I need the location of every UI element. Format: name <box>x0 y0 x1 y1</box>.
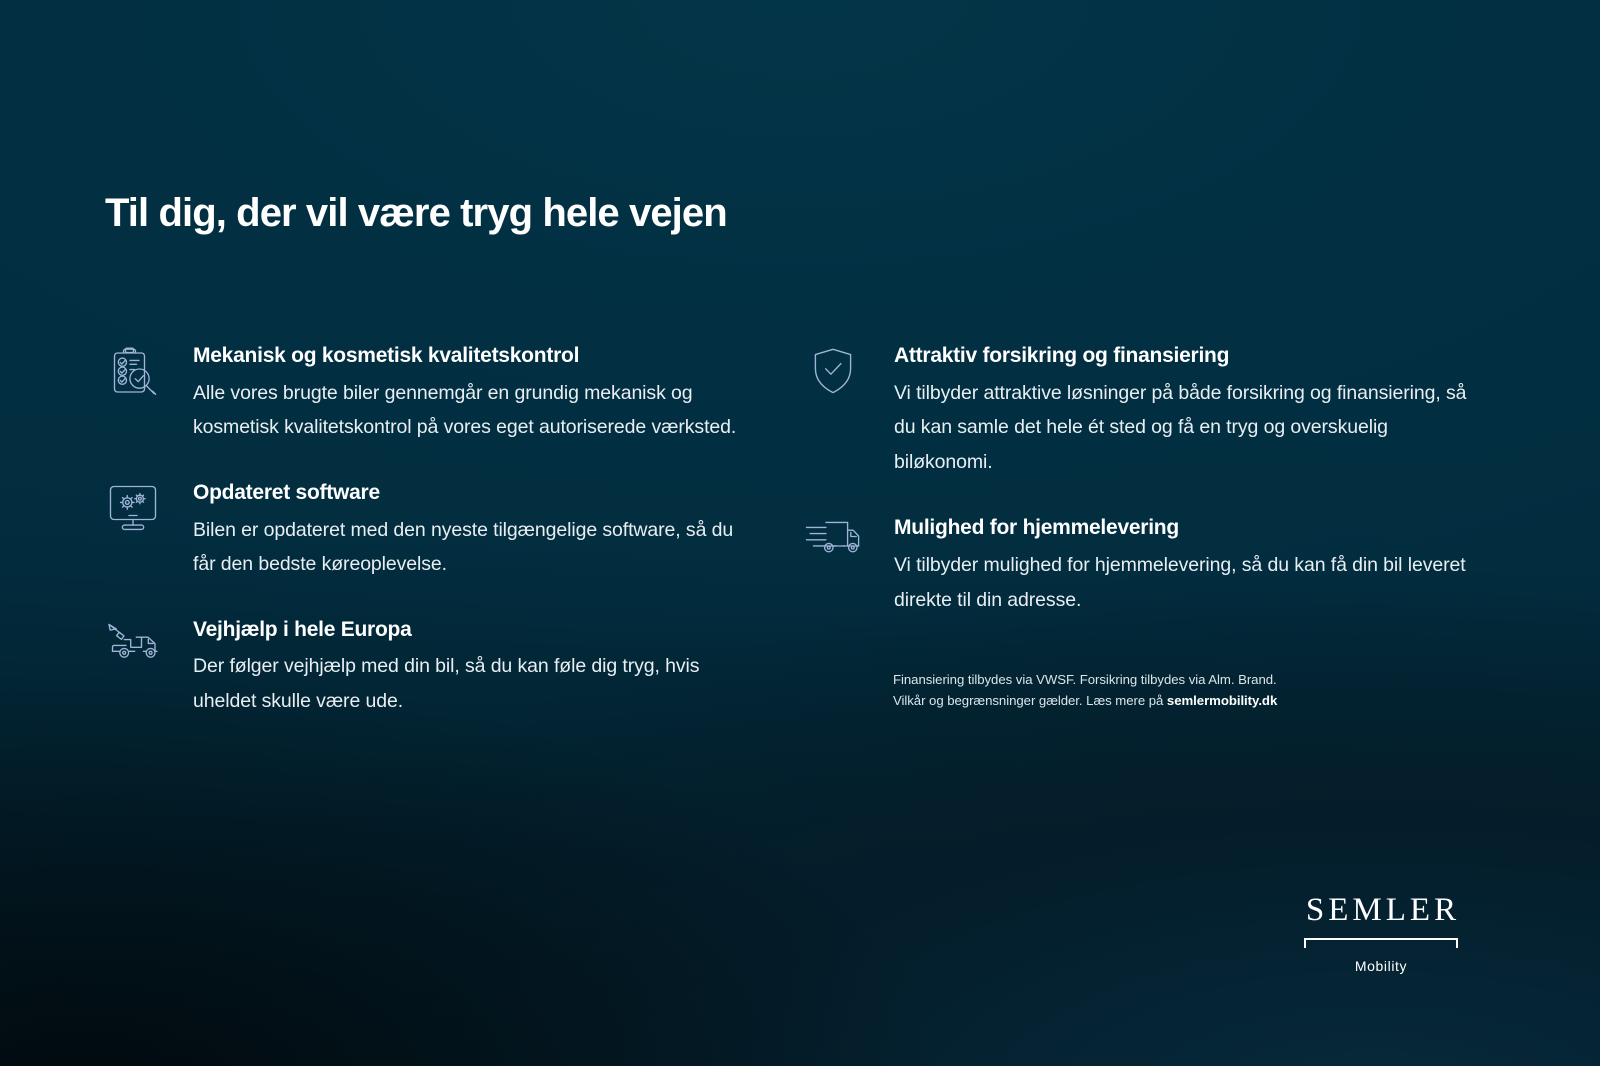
feature-item-software: Opdateret software Bilen er opdateret me… <box>105 481 745 582</box>
tow-truck-icon <box>105 618 163 670</box>
page-title: Til dig, der vil være tryg hele vejen <box>105 191 727 236</box>
delivery-truck-icon <box>805 516 861 568</box>
semlermobility-link[interactable]: semlermobility.dk <box>1167 693 1277 708</box>
feature-item-roadside-assistance: Vejhjælp i hele Europa Der følger vejhjæ… <box>105 618 745 719</box>
feature-body: Mekanisk og kosmetisk kvalitetskontrol A… <box>193 344 745 445</box>
feature-body: Attraktiv forsikring og finansiering Vi … <box>894 344 1485 479</box>
logo-wordmark: SEMLER <box>1297 894 1465 927</box>
feature-item-home-delivery: Mulighed for hjemmelevering Vi tilbyder … <box>805 516 1485 617</box>
monitor-gears-icon <box>105 481 163 533</box>
shield-check-icon <box>805 344 861 396</box>
feature-title: Mekanisk og kosmetisk kvalitetskontrol <box>193 344 745 369</box>
poster-content: Til dig, der vil være tryg hele vejen <box>0 0 1600 1066</box>
feature-body: Opdateret software Bilen er opdateret me… <box>193 481 745 582</box>
disclaimer-line-2-prefix: Vilkår og begrænsninger gælder. Læs mere… <box>893 693 1167 708</box>
feature-title: Vejhjælp i hele Europa <box>193 618 745 643</box>
logo-divider-rule <box>1304 938 1458 949</box>
feature-description: Vi tilbyder mulighed for hjemmelevering,… <box>894 548 1485 617</box>
feature-column-right: Attraktiv forsikring og finansiering Vi … <box>805 344 1485 617</box>
feature-description: Der følger vejhjælp med din bil, så du k… <box>193 649 745 718</box>
feature-description: Alle vores brugte biler gennemgår en gru… <box>193 376 745 445</box>
feature-title: Attraktiv forsikring og finansiering <box>894 344 1485 369</box>
logo-subtitle: Mobility <box>1297 958 1465 974</box>
disclaimer-line-1: Finansiering tilbydes via VWSF. Forsikri… <box>893 672 1277 687</box>
feature-title: Mulighed for hjemmelevering <box>894 516 1485 541</box>
logo-rule-tick-left <box>1304 938 1306 948</box>
feature-body: Vejhjælp i hele Europa Der følger vejhjæ… <box>193 618 745 719</box>
feature-description: Bilen er opdateret med den nyeste tilgæn… <box>193 513 745 582</box>
semler-mobility-logo: SEMLER Mobility <box>1297 894 1465 974</box>
feature-description: Vi tilbyder attraktive løsninger på både… <box>894 376 1485 480</box>
logo-rule-tick-right <box>1456 938 1458 948</box>
poster-canvas: Til dig, der vil være tryg hele vejen <box>0 0 1600 1066</box>
feature-title: Opdateret software <box>193 481 745 506</box>
feature-body: Mulighed for hjemmelevering Vi tilbyder … <box>894 516 1485 617</box>
feature-item-quality-control: Mekanisk og kosmetisk kvalitetskontrol A… <box>105 344 745 445</box>
feature-item-insurance-financing: Attraktiv forsikring og finansiering Vi … <box>805 344 1485 479</box>
legal-disclaimer: Finansiering tilbydes via VWSF. Forsikri… <box>893 669 1413 712</box>
feature-column-left: Mekanisk og kosmetisk kvalitetskontrol A… <box>105 344 745 718</box>
clipboard-checklist-magnifier-icon <box>105 344 163 396</box>
